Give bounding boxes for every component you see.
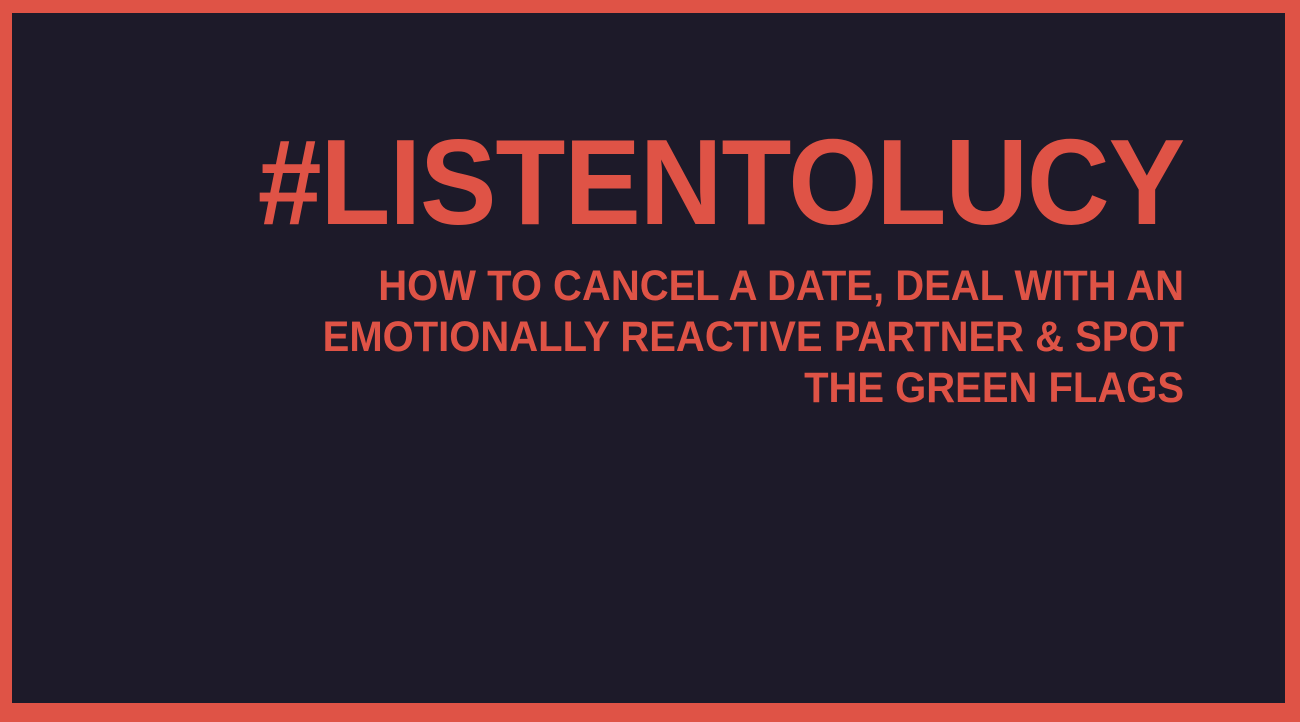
poster-text-block: #LISTENTOLUCY HOW TO CANCEL A DATE, DEAL… xyxy=(12,130,1184,414)
poster-frame: #LISTENTOLUCY HOW TO CANCEL A DATE, DEAL… xyxy=(0,0,1300,722)
poster-panel: #LISTENTOLUCY HOW TO CANCEL A DATE, DEAL… xyxy=(12,13,1285,703)
poster-subheading: HOW TO CANCEL A DATE, DEAL WITH AN EMOTI… xyxy=(94,261,1184,414)
subheading-line-1: HOW TO CANCEL A DATE, DEAL WITH AN xyxy=(94,261,1184,312)
subheading-line-2: EMOTIONALLY REACTIVE PARTNER & SPOT xyxy=(94,312,1184,363)
page-title: #LISTENTOLUCY xyxy=(82,130,1184,235)
subheading-line-3: THE GREEN FLAGS xyxy=(94,363,1184,414)
